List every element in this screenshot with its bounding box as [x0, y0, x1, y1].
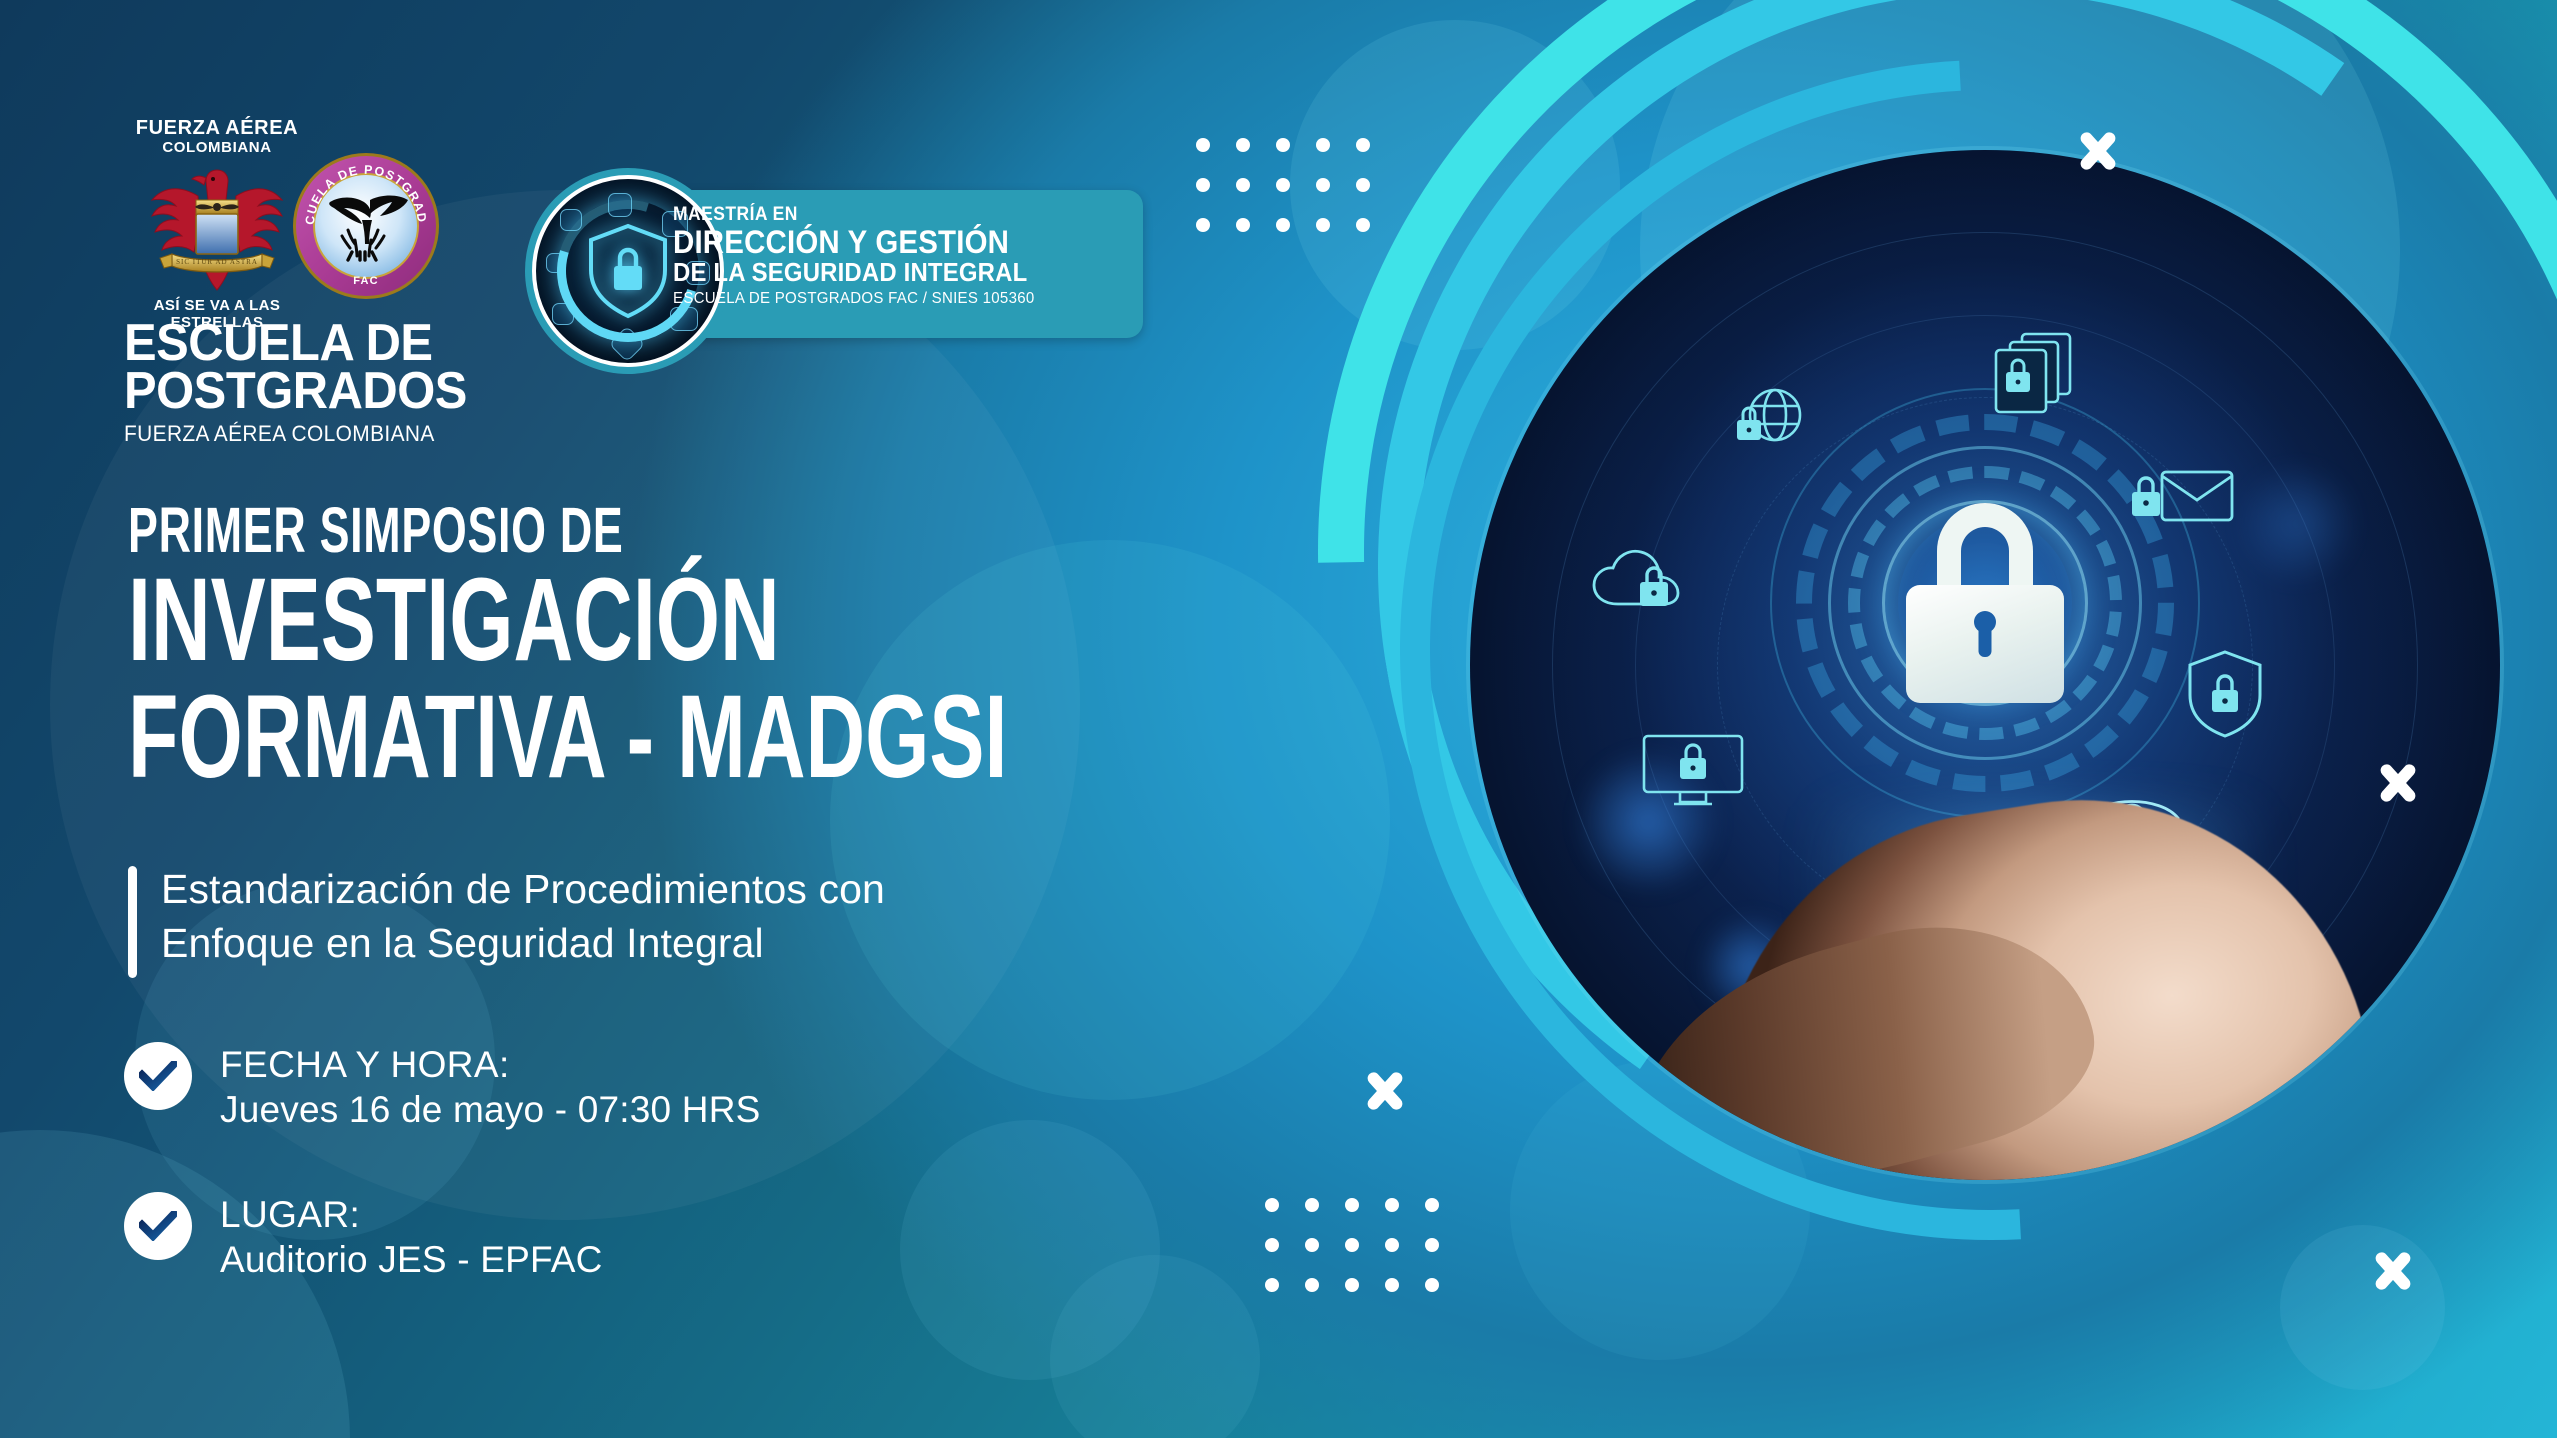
check-circle-icon [124, 1192, 192, 1260]
decor-blob [900, 1120, 1160, 1380]
eye-icon [2082, 790, 2182, 846]
program-title-1: DIRECCIÓN Y GESTIÓN [673, 226, 1105, 259]
decor-x-mark [1362, 1068, 1408, 1114]
detail-value: Auditorio JES - EPFAC [220, 1237, 603, 1282]
cloud-lock-icon [1592, 548, 1698, 620]
detail-row-fecha: FECHA Y HORA: Jueves 16 de mayo - 07:30 … [124, 1040, 761, 1132]
decor-x-mark [2370, 1248, 2416, 1294]
subtitle-line2: Enfoque en la Seguridad Integral [161, 916, 885, 970]
program-badge: MAESTRÍA EN DIRECCIÓN Y GESTIÓN DE LA SE… [525, 168, 1145, 368]
subtitle-accent-bar [128, 866, 137, 978]
fac-name-line1: FUERZA AÉREA [128, 118, 306, 139]
detail-value: Jueves 16 de mayo - 07:30 HRS [220, 1087, 761, 1132]
decor-blob [2280, 1225, 2445, 1390]
event-poster: FUERZA AÉREA COLOMBIANA [0, 0, 2557, 1438]
shield-lock-icon [2184, 648, 2266, 740]
detail-row-lugar: LUGAR: Auditorio JES - EPFAC [124, 1190, 603, 1282]
check-circle-icon [124, 1042, 192, 1110]
headline-line1: INVESTIGACIÓN [128, 562, 954, 679]
fac-motto-line1: ASÍ SE VA A LAS [128, 298, 306, 315]
headline-kicker: PRIMER SIMPOSIO DE [128, 498, 954, 562]
globe-lock-icon [1725, 382, 1811, 456]
documents-lock-icon [1982, 328, 2078, 416]
padlock-icon [1906, 503, 2064, 703]
fac-coat-of-arms-icon: SIC ITUR AD ASTRA [142, 162, 292, 294]
program-badge-text: MAESTRÍA EN DIRECCIÓN Y GESTIÓN DE LA SE… [673, 204, 1143, 308]
wordmark-line1: ESCUELA DE [124, 320, 462, 368]
detail-label: LUGAR: [220, 1192, 603, 1237]
wordmark-line2: POSTGRADOS [124, 368, 462, 416]
escuela-postgrados-wordmark: ESCUELA DE POSTGRADOS FUERZA AÉREA COLOM… [124, 320, 484, 447]
hero-image [1470, 150, 2500, 1180]
wordmark-subtitle: FUERZA AÉREA COLOMBIANA [124, 421, 466, 447]
envelope-lock-icon [2130, 462, 2236, 530]
event-headline: PRIMER SIMPOSIO DE INVESTIGACIÓN FORMATI… [128, 498, 1308, 796]
bokeh-light [2232, 459, 2362, 589]
event-subtitle: Estandarización de Procedimientos con En… [128, 862, 885, 978]
bokeh-light [1697, 912, 1807, 1022]
svg-text:SIC ITUR AD ASTRA: SIC ITUR AD ASTRA [176, 258, 258, 266]
detail-label: FECHA Y HORA: [220, 1042, 761, 1087]
decor-dot-grid-bottom [1265, 1198, 1439, 1292]
monitor-lock-icon [1640, 730, 1746, 810]
headline-line2: FORMATIVA - MADGSI [128, 679, 954, 796]
program-title-2: DE LA SEGURIDAD INTEGRAL [673, 259, 1105, 286]
svg-text:FAC: FAC [353, 275, 379, 287]
decor-blob [0, 1130, 350, 1438]
fac-logo: FUERZA AÉREA COLOMBIANA [128, 118, 306, 331]
decor-dot-grid-top [1196, 138, 1370, 232]
program-footnote: ESCUELA DE POSTGRADOS FAC / SNIES 105360 [673, 290, 1115, 308]
subtitle-line1: Estandarización de Procedimientos con [161, 862, 885, 916]
epfac-seal-icon: ESCUELA DE POSTGRADOS FAC [292, 152, 440, 300]
program-eyebrow: MAESTRÍA EN [673, 204, 1105, 226]
decor-x-mark [2375, 760, 2421, 806]
fac-name-line2: COLOMBIANA [128, 139, 306, 156]
decor-x-mark [2075, 128, 2121, 174]
decor-blob [1050, 1255, 1260, 1438]
